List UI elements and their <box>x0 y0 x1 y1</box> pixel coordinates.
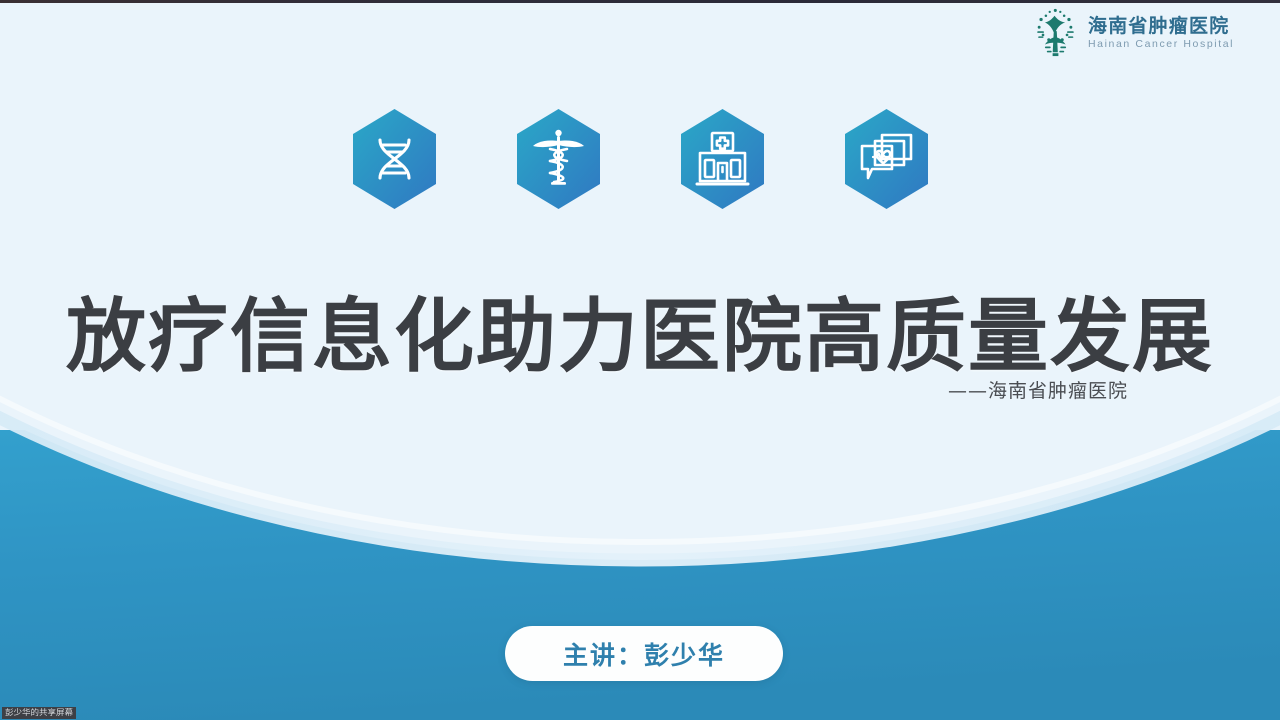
page-subtitle: ——海南省肿瘤医院 <box>0 376 1280 403</box>
hospital-logo-mark-icon <box>1032 8 1079 58</box>
screen-share-label: 彭少华的共享屏幕 <box>5 709 73 717</box>
logo-chinese-name: 海南省肿瘤医院 <box>1088 17 1234 36</box>
hexagon-consultation[interactable] <box>842 108 931 210</box>
speaker-name: 主讲：彭少华 <box>563 636 725 672</box>
presentation-slide: 海南省肿瘤医院 Hainan Cancer Hospital <box>0 0 1280 720</box>
logo-english-name: Hainan Cancer Hospital <box>1088 39 1234 50</box>
page-title: 放疗信息化助力医院高质量发展 <box>0 272 1280 388</box>
hospital-logo: 海南省肿瘤医院 Hainan Cancer Hospital <box>1032 8 1234 58</box>
hexagon-caduceus[interactable] <box>514 108 603 210</box>
hexagon-dna[interactable] <box>350 108 439 210</box>
screen-share-tag: 彭少华的共享屏幕 <box>2 707 76 719</box>
capture-top-strip <box>0 0 1280 3</box>
hexagon-hospital[interactable] <box>678 108 767 210</box>
speaker-badge: 主讲：彭少华 <box>505 626 783 681</box>
hexagon-icon-row <box>350 108 931 210</box>
